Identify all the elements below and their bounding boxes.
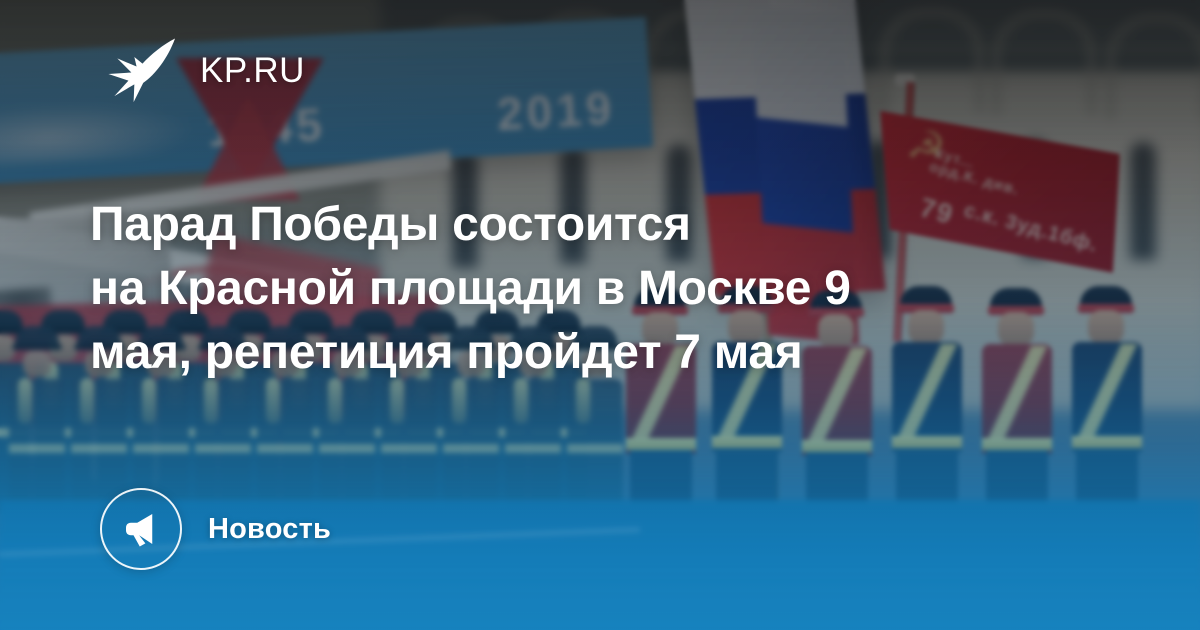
megaphone-icon — [121, 509, 161, 549]
megaphone-circle — [100, 488, 182, 570]
news-badge-label: Новость — [208, 513, 331, 546]
headline-line-1: Парад Победы состоится — [90, 193, 1090, 257]
foreground-layer: KP.RU Парад Победы состоится на Красной … — [0, 0, 1200, 630]
headline-line-3: мая, репетиция пройдет 7 мая — [90, 321, 1090, 385]
news-badge[interactable]: Новость — [100, 488, 331, 570]
headline-line-2: на Красной площади в Москве 9 — [90, 257, 1090, 321]
brand-logo[interactable]: KP.RU — [104, 34, 305, 108]
brand-wordmark: KP.RU — [200, 51, 305, 91]
headline: Парад Победы состоится на Красной площад… — [90, 193, 1090, 385]
swallow-bird-icon — [104, 34, 178, 108]
share-card: 1945 2019 1945-2019 — [0, 0, 1200, 630]
